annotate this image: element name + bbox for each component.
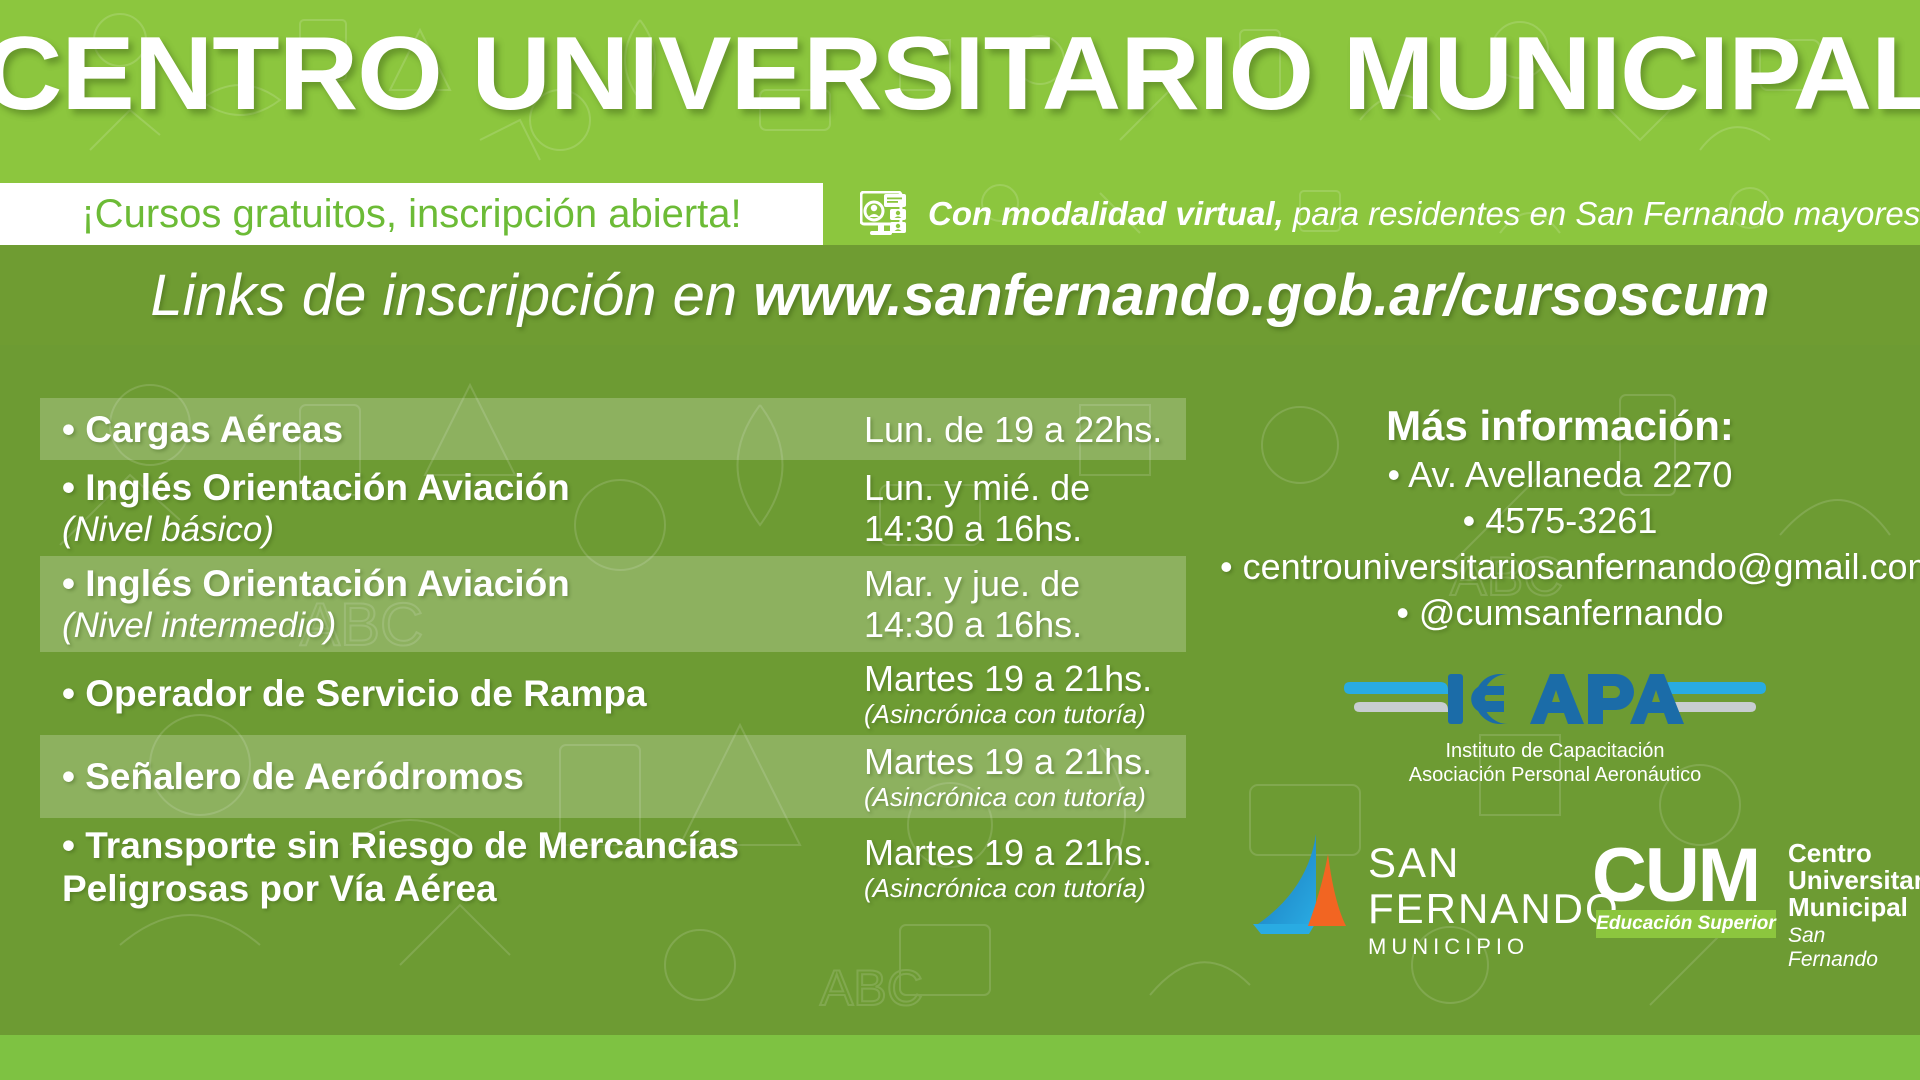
san-fernando-wordmark: SAN FERNANDO MUNICIPIO [1368,840,1620,962]
course-name-text: • Inglés Orientación Aviación [62,563,570,604]
icapa-logo: Instituto de Capacitación Asociación Per… [1330,668,1780,787]
course-level-text: (Nivel intermedio) [62,605,846,646]
cum-line4: San Fernando [1788,924,1912,972]
cum-wordmark: CUM [1592,838,1759,914]
course-name-text: • Cargas Aéreas [62,409,343,450]
video-conference-icon [860,191,914,237]
course-name: • Transporte sin Riesgo de Mercancías Pe… [62,824,864,910]
icapa-subtitle-line2: Asociación Personal Aeronáutico [1330,763,1780,787]
more-info-panel: Más información: • Av. Avellaneda 2270 •… [1220,400,1900,636]
info-social[interactable]: • @cumsanfernando [1220,590,1900,636]
course-schedule: Martes 19 a 21hs. (Asincrónica con tutor… [864,658,1164,729]
virtual-modality-note: Con modalidad virtual, para residentes e… [860,183,1920,245]
cum-line3: Municipal [1788,894,1920,921]
registration-url-text: Links de inscripción en www.sanfernando.… [150,262,1769,329]
poster: CENTRO UNIVERSITARIO MUNICIPAL ¡Cursos g… [0,0,1920,1080]
course-level-text: (Nivel básico) [62,509,846,550]
virtual-modality-text: Con modalidad virtual, para residentes e… [928,195,1920,233]
course-row: • Inglés Orientación Aviación (Nivel bás… [40,460,1186,556]
virtual-rest-text: para residentes en San Fernando mayores … [1284,195,1920,232]
sf-line2: FERNANDO [1368,886,1620,932]
course-row: • Transporte sin Riesgo de Mercancías Pe… [40,818,1186,916]
free-courses-text: ¡Cursos gratuitos, inscripción abierta! [81,192,741,237]
course-name-text: • Inglés Orientación Aviación [62,467,570,508]
cum-tag-text: Educación Superior [1596,913,1775,935]
footer-strip [0,1035,1920,1080]
course-note-text: (Asincrónica con tutoría) [864,782,1164,812]
info-phone: • 4575-3261 [1220,498,1900,544]
course-name: • Cargas Aéreas [62,408,864,451]
banner-band: ¡Cursos gratuitos, inscripción abierta! [0,183,1920,245]
cum-tag: Educación Superior [1596,910,1776,938]
course-name: • Inglés Orientación Aviación (Nivel bás… [62,466,864,550]
course-name: • Operador de Servicio de Rampa [62,672,864,715]
course-schedule-text: Martes 19 a 21hs. [864,741,1152,782]
courses-list: • Cargas Aéreas Lun. de 19 a 22hs. • Ing… [40,398,1186,916]
course-name-text: • Señalero de Aeródromos [62,756,524,797]
course-schedule: Martes 19 a 21hs. (Asincrónica con tutor… [864,832,1164,903]
course-note-text: (Asincrónica con tutoría) [864,699,1164,729]
icapa-subtitle-line1: Instituto de Capacitación [1330,739,1780,763]
free-courses-banner: ¡Cursos gratuitos, inscripción abierta! [0,183,823,245]
course-schedule-text: Martes 19 a 21hs. [864,832,1152,873]
more-info-title: Más información: [1220,400,1900,452]
course-schedule-text: Mar. y jue. de 14:30 a 16hs. [864,563,1082,645]
course-schedule: Lun. y mié. de 14:30 a 16hs. [864,467,1164,549]
course-name-text: • Transporte sin Riesgo de Mercancías Pe… [62,825,739,909]
sf-line1: SAN [1368,840,1620,886]
cum-line1: Centro [1788,840,1920,867]
course-schedule-text: Lun. de 19 a 22hs. [864,409,1162,450]
course-schedule-text: Martes 19 a 21hs. [864,658,1152,699]
icapa-subtitle: Instituto de Capacitación Asociación Per… [1330,739,1780,787]
cum-line2: Universitario [1788,867,1920,894]
course-schedule: Mar. y jue. de 14:30 a 16hs. [864,563,1164,645]
course-row: • Operador de Servicio de Rampa Martes 1… [40,652,1186,735]
course-name: • Señalero de Aeródromos [62,755,864,798]
info-email[interactable]: • centrouniversitariosanfernando@gmail.c… [1220,544,1900,590]
svg-text:ABC: ABC [820,960,923,1016]
virtual-bold-text: Con modalidad virtual, [928,195,1284,232]
sf-line3: MUNICIPIO [1368,932,1620,962]
course-name: • Inglés Orientación Aviación (Nivel int… [62,562,864,646]
registration-url-band: Links de inscripción en www.sanfernando.… [0,245,1920,345]
cum-fullname: Centro Universitario Municipal [1788,840,1920,921]
url-prefix: Links de inscripción en [150,263,753,328]
registration-url[interactable]: www.sanfernando.gob.ar/cursoscum [753,263,1769,328]
page-title: CENTRO UNIVERSITARIO MUNICIPAL [0,18,1920,130]
course-schedule-text: Lun. y mié. de 14:30 a 16hs. [864,467,1090,549]
icapa-wordmark-icon [1330,668,1780,730]
header-band: CENTRO UNIVERSITARIO MUNICIPAL [0,0,1920,183]
course-row: • Cargas Aéreas Lun. de 19 a 22hs. [40,398,1186,460]
course-row: • Señalero de Aeródromos Martes 19 a 21h… [40,735,1186,818]
course-note-text: (Asincrónica con tutoría) [864,873,1164,903]
cum-logo: CUM Educación Superior Centro Universita… [1592,838,1912,948]
course-name-text: • Operador de Servicio de Rampa [62,673,647,714]
course-row: • Inglés Orientación Aviación (Nivel int… [40,556,1186,652]
info-address: • Av. Avellaneda 2270 [1220,452,1900,498]
san-fernando-logo: SAN FERNANDO MUNICIPIO [1248,832,1578,952]
course-schedule: Lun. de 19 a 22hs. [864,409,1164,450]
sailboat-icon [1248,832,1363,952]
course-schedule: Martes 19 a 21hs. (Asincrónica con tutor… [864,741,1164,812]
